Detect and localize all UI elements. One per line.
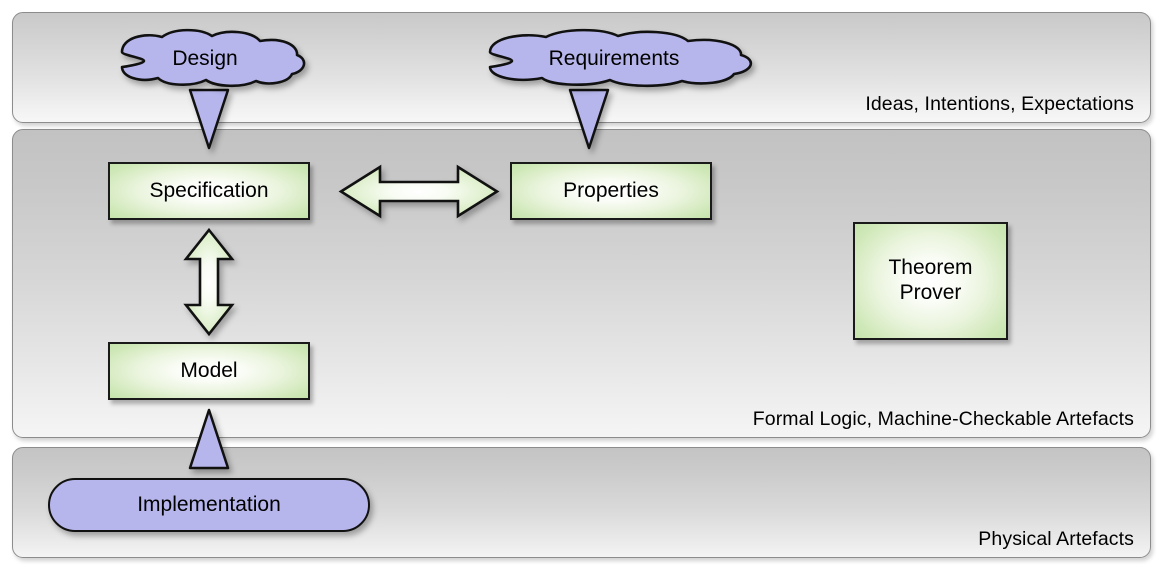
arrow-implementation-to-model [186, 408, 232, 470]
node-model-label: Model [180, 359, 237, 384]
double-arrow-specification-properties [338, 163, 500, 220]
node-design[interactable]: Design [100, 31, 310, 87]
arrow-requirements-to-properties [566, 88, 612, 150]
node-theorem-prover-label: Theorem Prover [888, 256, 972, 306]
node-properties-label: Properties [563, 179, 659, 204]
node-model[interactable]: Model [108, 342, 310, 400]
layer-band-physical-label: Physical Artefacts [978, 528, 1134, 551]
double-arrow-specification-model [183, 227, 235, 337]
node-theorem-prover[interactable]: Theorem Prover [853, 222, 1008, 340]
layer-band-formal-label: Formal Logic, Machine-Checkable Artefact… [753, 408, 1134, 431]
node-implementation[interactable]: Implementation [48, 478, 370, 532]
diagram-canvas: Ideas, Intentions, Expectations Formal L… [0, 0, 1163, 570]
node-properties[interactable]: Properties [510, 162, 712, 220]
node-specification-label: Specification [149, 179, 268, 204]
node-implementation-pill [48, 478, 370, 532]
layer-band-ideas-label: Ideas, Intentions, Expectations [865, 93, 1134, 116]
node-specification[interactable]: Specification [108, 162, 310, 220]
arrow-design-to-specification [186, 88, 232, 150]
node-requirements[interactable]: Requirements [468, 31, 760, 87]
